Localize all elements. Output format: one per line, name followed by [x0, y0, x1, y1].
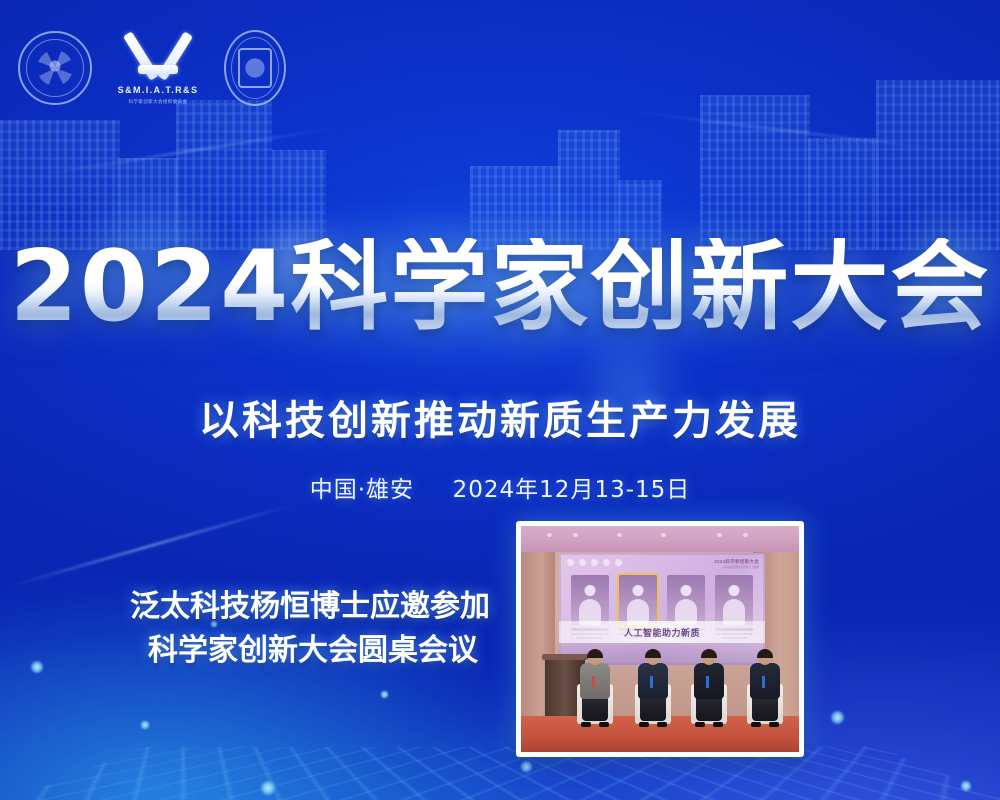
conference-poster: S&M.I.A.T.R&S 科学家创新大会组织委员会 2024科学家创新大会 以…	[0, 0, 1000, 800]
event-location: 中国·雄安	[310, 477, 414, 503]
light-streak	[6, 504, 295, 588]
screen-brand-sub: 以科技创新推动新质生产力发展	[714, 565, 759, 569]
photo-projection-screen: 2024科学家创新大会 以科技创新推动新质生产力发展 人工智能助力新质	[559, 553, 765, 665]
photo-panelist	[575, 650, 615, 724]
photo-panelist	[633, 650, 673, 724]
page-title: 2024科学家创新大会	[0, 238, 1000, 336]
triangle-a-icon	[130, 31, 186, 81]
institution-seal-icon	[18, 31, 92, 105]
triangle-logo-sublabel: 科学家创新大会组织委员会	[129, 99, 188, 105]
event-photo: 2024科学家创新大会 以科技创新推动新质生产力发展 人工智能助力新质	[516, 521, 804, 757]
academy-shield-icon	[224, 30, 286, 106]
event-dateline: 中国·雄安 2024年12月13-15日	[0, 470, 1000, 504]
title-block: 2024科学家创新大会	[0, 238, 1000, 336]
photo-panelist	[745, 650, 785, 724]
event-date: 2024年12月13-15日	[453, 477, 691, 503]
poster-subtitle: 以科技创新推动新质生产力发展	[0, 388, 1000, 446]
light-streak	[42, 127, 339, 175]
event-caption: 泛太科技杨恒博士应邀参加 科学家创新大会圆桌会议	[130, 585, 490, 672]
logo-row: S&M.I.A.T.R&S 科学家创新大会组织委员会	[18, 30, 286, 106]
screen-session-title: 人工智能助力新质	[624, 626, 700, 639]
caption-line-1: 泛太科技杨恒博士应邀参加	[130, 585, 490, 629]
light-streak	[621, 109, 959, 152]
caption-line-2: 科学家创新大会圆桌会议	[130, 629, 490, 673]
triangle-mark-logo: S&M.I.A.T.R&S 科学家创新大会组织委员会	[118, 31, 198, 105]
triangle-logo-label: S&M.I.A.T.R&S	[118, 85, 199, 95]
photo-panelist	[689, 650, 729, 724]
